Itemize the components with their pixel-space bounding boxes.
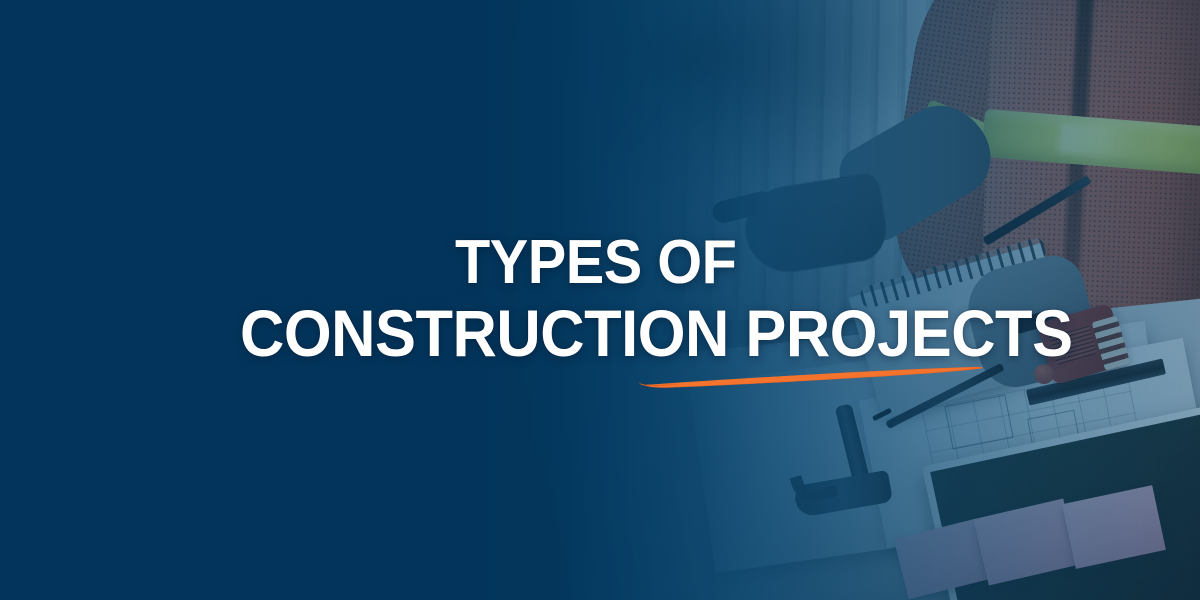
blue-gradient-overlay [0, 0, 1200, 600]
hero-banner: TYPES OF CONSTRUCTION PROJECTS [0, 0, 1200, 600]
